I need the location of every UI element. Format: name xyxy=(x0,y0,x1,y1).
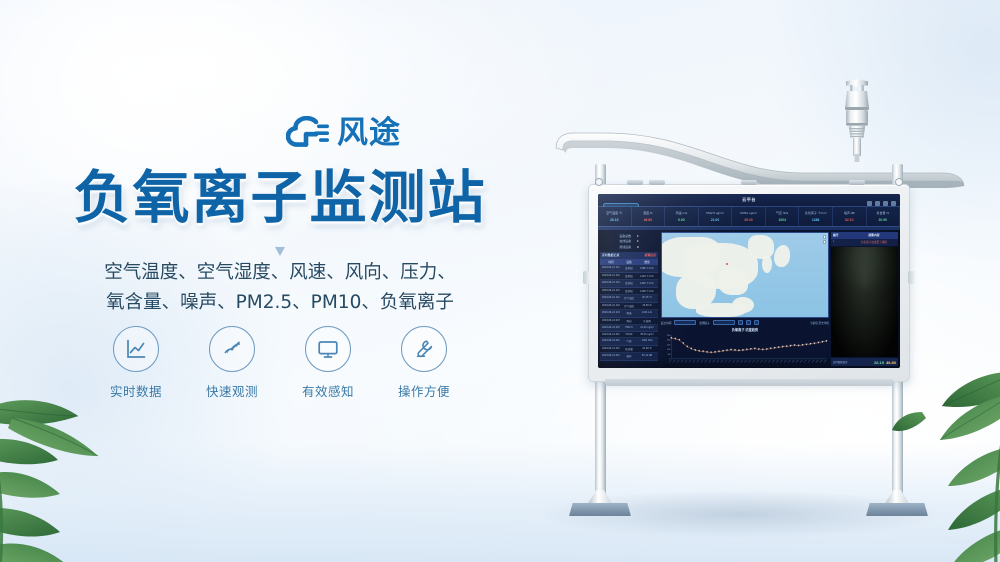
svg-text:16:00: 16:00 xyxy=(796,359,800,363)
stat-value: 0 xyxy=(637,245,639,249)
monitoring-station-kiosk: 云平台 空气温度 ℃ 26.15 xyxy=(520,60,990,530)
table-row[interactable]: 2023-06-21 09:55:00风向东南风 xyxy=(600,318,658,326)
camera-vignette xyxy=(831,247,898,357)
feature-label: 有效感知 xyxy=(302,381,354,400)
title-divider-arrow xyxy=(275,247,285,256)
fengtu-wind-g-logo-icon xyxy=(286,116,330,150)
header-icon-2[interactable] xyxy=(875,201,880,206)
bezel-side-lug-left xyxy=(583,271,590,284)
stat-row: 离线设备 0 xyxy=(600,245,658,249)
svg-text:10:30: 10:30 xyxy=(752,359,756,363)
chart-title: 负氧离子 浓度趋势 xyxy=(661,327,829,332)
metric-card: 风速 m/s 0.00 xyxy=(665,207,699,226)
table-cell: 空气湿度 xyxy=(620,304,638,308)
svg-text:17:30: 17:30 xyxy=(808,359,812,363)
metric-value: 1004 xyxy=(778,218,786,222)
svg-text:19:30: 19:30 xyxy=(824,359,828,363)
metric-card-row: 空气温度 ℃ 26.15 湿度 % 46.80 风速 m/s 0.00 xyxy=(598,207,900,226)
table-cell: 气压 xyxy=(620,339,638,343)
svg-text:09:30: 09:30 xyxy=(744,359,748,363)
table-cell: PM2.5 xyxy=(620,326,638,329)
alarm-table-header: 编号 报警内容 xyxy=(831,232,898,239)
landmass-northeast xyxy=(748,235,774,259)
metric-card: 氧含量 % 20.90 xyxy=(867,207,901,226)
metric-label: 气压 hPa xyxy=(776,211,788,215)
svg-text:16:30: 16:30 xyxy=(800,359,804,363)
monitor-icon xyxy=(305,326,351,372)
table-cell: PM10 xyxy=(620,333,638,336)
column-header: 数值 xyxy=(638,260,656,264)
table-cell: 1286 个/cm³ xyxy=(638,266,656,270)
landmass-southchina xyxy=(718,269,748,295)
column-header: 时间 xyxy=(602,260,620,264)
table-cell: 2023-06-21 09:40:00 xyxy=(602,339,620,343)
feature-item-realtime-data[interactable]: 实时数据 xyxy=(105,326,167,400)
metric-card: 负氧离子 个/cm³ 1286 xyxy=(799,207,833,226)
table-cell: 46.80 % xyxy=(638,304,656,308)
svg-text:1000: 1000 xyxy=(667,349,671,351)
table-cell: 2023-06-21 10:30:00 xyxy=(602,266,620,270)
svg-text:18:30: 18:30 xyxy=(816,359,820,363)
brand-name: 风途 xyxy=(337,118,401,149)
dashboard-ui: 云平台 空气温度 ℃ 26.15 xyxy=(598,194,900,368)
svg-text:02:30: 02:30 xyxy=(688,359,692,363)
table-cell: 1004 hPa xyxy=(638,339,656,343)
sensor-parameter-list: 空气温度、空气湿度、风速、风向、压力、 氧含量、噪声、PM2.5、PM10、负氧… xyxy=(0,258,560,318)
map-zoom-controls[interactable] xyxy=(823,235,827,244)
feature-item-easy-operation[interactable]: 操作方便 xyxy=(393,326,455,400)
date-filter-select[interactable] xyxy=(674,320,696,325)
svg-text:04:00: 04:00 xyxy=(700,359,704,363)
monitor-bottom-trim xyxy=(605,379,893,386)
table-row[interactable]: 2023-06-21 10:00:00风速0.00 m/s xyxy=(600,310,658,318)
table-row[interactable]: 2023-06-21 10:15:00监测站1268 个/cm³ xyxy=(600,288,658,296)
table-cell: 52.10 dB xyxy=(638,354,656,358)
table-cell: 2023-06-21 09:50:00 xyxy=(602,326,620,329)
svg-text:19:00: 19:00 xyxy=(820,359,824,363)
base-plate xyxy=(866,503,928,516)
table-cell: 1302 个/cm³ xyxy=(638,281,656,285)
svg-text:1500: 1500 xyxy=(667,344,671,346)
line-chart-icon xyxy=(113,326,159,372)
pole-base-right xyxy=(866,494,928,516)
table-cell: 1294 个/cm³ xyxy=(638,274,656,278)
table-cell: 1268 个/cm³ xyxy=(638,289,656,293)
stat-key: 设备总数 xyxy=(619,234,631,238)
svg-text:11:30: 11:30 xyxy=(760,359,764,363)
svg-text:2000: 2000 xyxy=(667,339,671,341)
bezel-side-lug-right xyxy=(908,271,915,284)
parameter-line-1: 空气温度、空气湿度、风速、风向、压力、 xyxy=(0,258,560,288)
alarm-id: 1 xyxy=(833,240,852,244)
camera-reading-2: 46.80 xyxy=(886,360,896,365)
stat-row: 设备总数 1 xyxy=(600,234,658,238)
camera-footer: 实时视频监控 26.15 46.80 xyxy=(831,358,898,366)
svg-text:03:30: 03:30 xyxy=(696,359,700,363)
table-cell: 26.15 ℃ xyxy=(638,296,656,300)
export-button[interactable] xyxy=(754,320,759,325)
svg-text:05:00: 05:00 xyxy=(708,359,712,363)
table-cell: 20.90 % xyxy=(638,347,656,351)
base-plate xyxy=(569,503,631,516)
table-row[interactable]: 2023-06-21 10:20:00监测站1302 个/cm³ xyxy=(600,280,658,288)
table-row[interactable]: 2023-06-21 09:30:00噪声52.10 dB xyxy=(600,353,658,361)
metric-card: 湿度 % 46.80 xyxy=(632,207,666,226)
metric-card: 空气温度 ℃ 26.15 xyxy=(598,207,632,226)
table-cell: 2023-06-21 10:25:00 xyxy=(602,274,620,278)
metric-value: 1286 xyxy=(812,218,820,222)
svg-text:11:00: 11:00 xyxy=(756,359,760,363)
svg-text:02:00: 02:00 xyxy=(684,359,688,363)
stat-value: 1 xyxy=(637,234,639,238)
map-and-chart-panel: 起止时间 监测因子 当前值 历史均值 xyxy=(660,230,830,368)
metric-label: 噪声 dB xyxy=(844,211,855,215)
bezel-mount-1 xyxy=(627,180,643,185)
radar-scan-icon xyxy=(209,326,255,372)
map-zoom-in-button[interactable] xyxy=(823,235,827,239)
svg-text:06:00: 06:00 xyxy=(716,359,720,363)
metric-value: 26.15 xyxy=(610,218,619,222)
svg-text:04:30: 04:30 xyxy=(704,359,708,363)
table-row[interactable]: 2023-06-21 09:40:00气压1004 hPa xyxy=(600,338,658,346)
metric-label: 湿度 % xyxy=(643,211,653,215)
bezel-bolt-left xyxy=(595,178,603,186)
table-cell: 2023-06-21 09:45:00 xyxy=(602,333,620,336)
svg-text:00:30: 00:30 xyxy=(673,359,677,363)
table-cell: 2023-06-21 10:15:00 xyxy=(602,289,620,293)
header-icon-group[interactable] xyxy=(867,201,896,206)
query-button[interactable] xyxy=(738,320,743,325)
chart-legend: 当前值 历史均值 xyxy=(810,321,829,325)
column-header: 报警内容 xyxy=(852,233,896,237)
svg-text:12:30: 12:30 xyxy=(768,359,772,363)
table-row[interactable]: 2023-06-21 10:10:00空气温度26.15 ℃ xyxy=(600,295,658,303)
chart-canvas: 0500100015002000250000:0000:3001:0001:30… xyxy=(661,333,829,367)
svg-text:10:00: 10:00 xyxy=(748,359,752,363)
brand-logo: 风途 xyxy=(286,116,401,150)
poster-canvas: 风途 负氧离子监测站 空气温度、空气湿度、风速、风向、压力、 氧含量、噪声、PM… xyxy=(0,0,1000,562)
camera-reading-1: 26.15 xyxy=(874,360,884,365)
svg-text:07:30: 07:30 xyxy=(728,359,732,363)
table-title: 实时数据记录 xyxy=(602,253,619,257)
table-cell: 监测站 xyxy=(620,266,638,270)
table-cell: 空气温度 xyxy=(620,296,638,300)
metric-card: 噪声 dB 52.10 xyxy=(833,207,867,226)
svg-text:13:30: 13:30 xyxy=(776,359,780,363)
table-cell: 2023-06-21 09:35:00 xyxy=(602,347,620,351)
svg-text:13:00: 13:00 xyxy=(772,359,776,363)
feature-label: 操作方便 xyxy=(398,381,450,400)
dashboard-body: 设备总数 1 在线设备 1 离线设备 0 xyxy=(598,230,900,368)
table-cell: 东南风 xyxy=(638,319,656,323)
metric-value: 35.00 xyxy=(744,218,753,222)
table-cell: 2023-06-21 10:20:00 xyxy=(602,281,620,285)
alarm-and-camera-panel: 编号 报警内容 1 负氧离子浓度低于阈值 xyxy=(830,230,900,368)
table-cell: 2023-06-21 10:05:00 xyxy=(602,304,620,308)
metric-label: 氧含量 % xyxy=(877,211,890,215)
svg-text:08:30: 08:30 xyxy=(736,359,740,363)
metric-value: 46.80 xyxy=(644,218,653,222)
svg-text:14:30: 14:30 xyxy=(784,359,788,363)
feature-item-effective-sensing[interactable]: 有效感知 xyxy=(297,326,359,400)
svg-text:18:00: 18:00 xyxy=(812,359,816,363)
svg-text:06:30: 06:30 xyxy=(720,359,724,363)
column-header: 设备 xyxy=(620,260,638,264)
bezel-mount-3 xyxy=(741,180,757,185)
svg-text:12:00: 12:00 xyxy=(764,359,768,363)
bezel-mount-4 xyxy=(849,180,865,185)
parameter-line-2: 氧含量、噪声、PM2.5、PM10、负氧离子 xyxy=(0,288,560,318)
landmass-indonesia xyxy=(696,303,746,317)
feature-label: 快速观测 xyxy=(206,381,258,400)
svg-text:05:30: 05:30 xyxy=(712,359,716,363)
metric-card: PM10 ug/m³ 35.00 xyxy=(732,207,766,226)
table-cell: 氧含量 xyxy=(620,347,638,351)
stat-value: 1 xyxy=(637,239,639,243)
svg-text:08:00: 08:00 xyxy=(732,359,736,363)
svg-text:09:00: 09:00 xyxy=(740,359,744,363)
feature-item-fast-observation[interactable]: 快速观测 xyxy=(201,326,263,400)
header-icon-1[interactable] xyxy=(867,201,872,206)
alarm-label[interactable]: 报警信息 xyxy=(644,253,656,257)
table-cell: 监测站 xyxy=(620,274,638,278)
metric-value: 0.00 xyxy=(678,218,685,222)
metric-card: PM2.5 ug/m³ 21.00 xyxy=(699,207,733,226)
table-row[interactable]: 2023-06-21 10:25:00监测站1294 个/cm³ xyxy=(600,273,658,281)
table-row[interactable]: 2023-06-21 10:05:00空气湿度46.80 % xyxy=(600,303,658,311)
stat-row: 在线设备 1 xyxy=(600,239,658,243)
svg-text:15:00: 15:00 xyxy=(788,359,792,363)
metric-label: 空气温度 ℃ xyxy=(606,211,622,215)
metric-card: 气压 hPa 1004 xyxy=(766,207,800,226)
svg-text:0: 0 xyxy=(669,358,670,360)
table-cell: 35.00 ug/m³ xyxy=(638,333,656,336)
feature-label: 实时数据 xyxy=(110,381,162,400)
svg-text:17:00: 17:00 xyxy=(804,359,808,363)
metric-label: PM2.5 ug/m³ xyxy=(706,211,723,215)
chart-filter-bar[interactable]: 起止时间 监测因子 当前值 历史均值 xyxy=(661,320,829,325)
wrench-icon xyxy=(401,326,447,372)
table-cell: 噪声 xyxy=(620,354,638,358)
table-cell: 2023-06-21 10:10:00 xyxy=(602,296,620,300)
param-filter-label: 监测因子 xyxy=(699,321,709,325)
metric-value: 21.00 xyxy=(711,218,720,222)
table-cell: 2023-06-21 09:55:00 xyxy=(602,319,620,323)
feature-list: 实时数据 快速观测 xyxy=(0,326,560,400)
reset-button[interactable] xyxy=(746,320,751,325)
alarm-message: 负氧离子浓度低于阈值 xyxy=(852,240,896,244)
svg-text:2500: 2500 xyxy=(667,334,671,336)
header-icon-3[interactable] xyxy=(883,201,888,206)
table-row[interactable]: 2023-06-21 09:35:00氧含量20.90 % xyxy=(600,346,658,354)
metric-value: 52.10 xyxy=(845,218,854,222)
data-table-header: 实时数据记录 报警信息 xyxy=(600,252,658,259)
hero-text-column: 风途 负氧离子监测站 空气温度、空气湿度、风速、风向、压力、 氧含量、噪声、PM… xyxy=(0,0,560,562)
bezel-mount-2 xyxy=(649,180,665,185)
svg-text:01:30: 01:30 xyxy=(681,359,685,363)
outdoor-display-monitor[interactable]: 云平台 空气温度 ℃ 26.15 xyxy=(588,184,910,382)
table-cell: 0.00 m/s xyxy=(638,311,656,315)
dashboard-title: 云平台 xyxy=(598,197,900,203)
table-cell: 2023-06-21 09:30:00 xyxy=(602,354,620,358)
table-cell: 21.00 ug/m³ xyxy=(638,326,656,329)
landmass-japan xyxy=(774,245,790,267)
live-camera-feed[interactable] xyxy=(831,247,898,357)
metric-label: 风速 m/s xyxy=(676,211,688,215)
china-map[interactable] xyxy=(661,232,829,318)
header-icon-4[interactable] xyxy=(891,201,896,206)
date-filter-label: 起止时间 xyxy=(661,321,671,325)
svg-text:03:00: 03:00 xyxy=(692,359,696,363)
svg-text:07:00: 07:00 xyxy=(724,359,728,363)
metric-label: PM10 ug/m³ xyxy=(740,211,756,215)
table-column-header: 时间 设备 数值 xyxy=(600,259,658,266)
table-cell: 监测站 xyxy=(620,281,638,285)
pole-base-left xyxy=(569,494,631,516)
svg-text:01:00: 01:00 xyxy=(677,359,681,363)
table-cell: 风向 xyxy=(620,319,638,323)
table-cell: 2023-06-21 10:00:00 xyxy=(602,311,620,315)
device-stats-panel: 设备总数 1 在线设备 1 离线设备 0 xyxy=(598,230,660,368)
column-header: 编号 xyxy=(833,233,852,237)
alarm-row: 1 负氧离子浓度低于阈值 xyxy=(831,239,898,246)
table-cell: 风速 xyxy=(620,311,638,315)
stat-key: 离线设备 xyxy=(619,245,631,249)
screen-surface[interactable]: 云平台 空气温度 ℃ 26.15 xyxy=(598,194,900,368)
svg-text:500: 500 xyxy=(668,353,671,355)
stat-key: 在线设备 xyxy=(619,239,631,243)
param-filter-select[interactable] xyxy=(713,320,735,325)
wave-canopy xyxy=(550,128,970,188)
table-row[interactable]: 2023-06-21 10:30:00监测站1286 个/cm³ xyxy=(600,265,658,273)
table-body: 2023-06-21 10:30:00监测站1286 个/cm³2023-06-… xyxy=(600,265,658,361)
map-zoom-out-button[interactable] xyxy=(823,240,827,244)
trend-line-chart: 0500100015002000250000:0000:3001:0001:30… xyxy=(661,333,829,367)
landmass-korea xyxy=(762,255,772,273)
camera-label: 实时视频监控 xyxy=(833,360,847,364)
page-title: 负氧离子监测站 xyxy=(0,168,560,230)
metric-value: 20.90 xyxy=(879,218,888,222)
svg-text:14:00: 14:00 xyxy=(780,359,784,363)
monitor-bezel: 云平台 空气温度 ℃ 26.15 xyxy=(588,184,910,382)
bezel-bolt-right xyxy=(895,178,903,186)
svg-text:15:30: 15:30 xyxy=(792,359,796,363)
table-cell: 监测站 xyxy=(620,289,638,293)
metric-label: 负氧离子 个/cm³ xyxy=(805,211,827,215)
map-station-pin[interactable] xyxy=(726,263,728,265)
